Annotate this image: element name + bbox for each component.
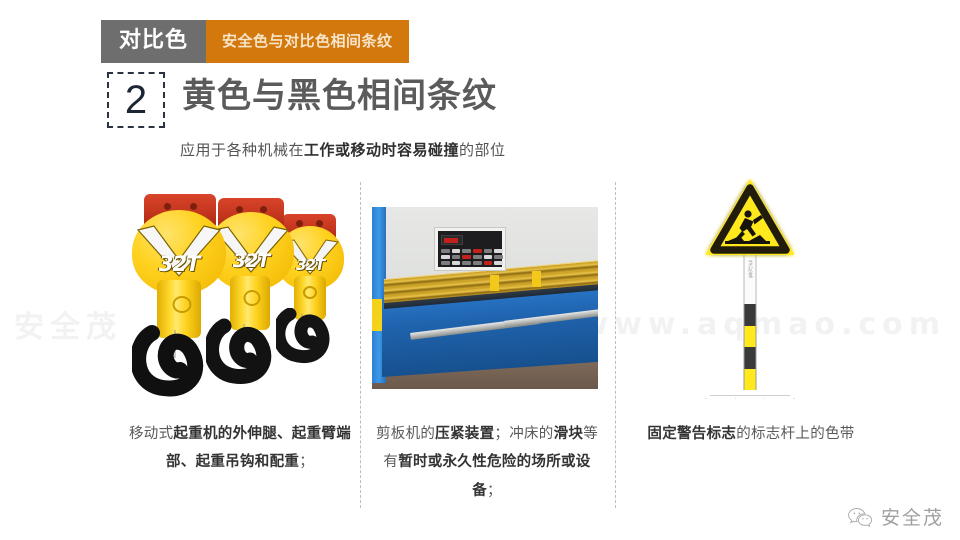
- divider-right: [615, 182, 616, 508]
- hook-curve-icon: [132, 324, 236, 402]
- header-tag-row: 对比色 安全色与对比色相间条纹: [101, 20, 409, 63]
- caption-warning-sign: 固定警告标志的标志杆上的色带: [636, 420, 866, 448]
- caption-shearing-machine: 剪板机的压紧装置；冲床的滑块等有暂时或永久性危险的场所或设备；: [372, 420, 602, 505]
- machine-clamp-block: [490, 275, 499, 291]
- page-subtitle: 应用于各种机械在工作或移动时容易碰撞的部位: [180, 139, 506, 160]
- hook-eye: [173, 296, 192, 313]
- sign-post-text: 当心坠落: [745, 260, 756, 278]
- panel-shearing-machine: [372, 207, 598, 389]
- panel-crane-hooks: 32T 32T: [130, 190, 352, 395]
- hook-eye: [244, 290, 261, 306]
- caption-segment: 滑块: [554, 426, 584, 442]
- title-row: 2 黄色与黑色相间条纹: [107, 72, 497, 128]
- hook-load-label: 32T: [159, 252, 200, 276]
- control-panel-face: [438, 231, 502, 267]
- caption-segment: ；: [299, 454, 314, 470]
- ground-ticks: -··-: [705, 396, 795, 402]
- hook-load-label: 32T: [296, 256, 324, 274]
- hook-eye: [303, 286, 317, 299]
- caption-segment: 的标志杆上的色带: [736, 426, 854, 442]
- section-number-box: 2: [107, 72, 165, 128]
- crane-hooks-figure: 32T 32T: [130, 190, 352, 395]
- crane-hook-front: 32T: [130, 194, 234, 394]
- section-tag: 安全色与对比色相间条纹: [206, 20, 409, 63]
- stripe-black: [745, 304, 756, 326]
- caption-segment: 起重机的外伸腿、起重臂端部、起重吊钩和配重: [166, 426, 351, 470]
- caption-segment: 压紧装置: [435, 426, 494, 442]
- control-display: [441, 235, 463, 245]
- caption-segment: ；: [494, 426, 509, 442]
- footer-account[interactable]: 安全茂: [847, 503, 944, 530]
- shearing-machine-figure: [372, 207, 598, 389]
- warning-sign-figure: 当心坠落 -··-: [650, 178, 850, 404]
- sign-post-stripes: [744, 304, 757, 390]
- divider-left: [360, 182, 361, 508]
- page-title: 黄色与黑色相间条纹: [182, 75, 497, 118]
- caption-segment: 移动式: [129, 426, 173, 442]
- subtitle-prefix: 应用于各种机械在: [180, 141, 304, 159]
- stripe-yellow: [745, 326, 756, 348]
- stripe-black: [745, 347, 756, 369]
- panel-warning-sign: 当心坠落 -··-: [650, 178, 850, 404]
- warning-triangle-sign: [704, 178, 796, 262]
- control-buttons: [441, 249, 503, 265]
- watermark-left-text: 安全茂: [14, 302, 122, 346]
- machine-clamp-block: [532, 271, 541, 287]
- footer-account-name: 安全茂: [881, 503, 944, 530]
- caption-segment: 冲床的: [509, 426, 553, 442]
- warning-falling-person-icon: [704, 178, 796, 258]
- caption-segment: ；: [487, 483, 502, 499]
- machine-control-panel: [434, 227, 506, 271]
- subtitle-suffix: 的部位: [459, 141, 506, 159]
- hook-load-label: 32T: [233, 250, 269, 272]
- caption-segment: 剪板机的: [376, 426, 435, 442]
- slide-root: 安全茂 www.aqmao.com 对比色 安全色与对比色相间条纹 2 黄色与黑…: [0, 0, 960, 540]
- wechat-icon: [847, 506, 873, 528]
- category-tag: 对比色: [101, 20, 206, 63]
- caption-segment: 固定警告标志: [647, 426, 736, 442]
- caption-crane-hooks: 移动式起重机的外伸腿、起重臂端部、起重吊钩和配重；: [122, 420, 358, 477]
- subtitle-emphasis: 工作或移动时容易碰撞: [304, 141, 459, 159]
- stripe-yellow: [745, 369, 756, 391]
